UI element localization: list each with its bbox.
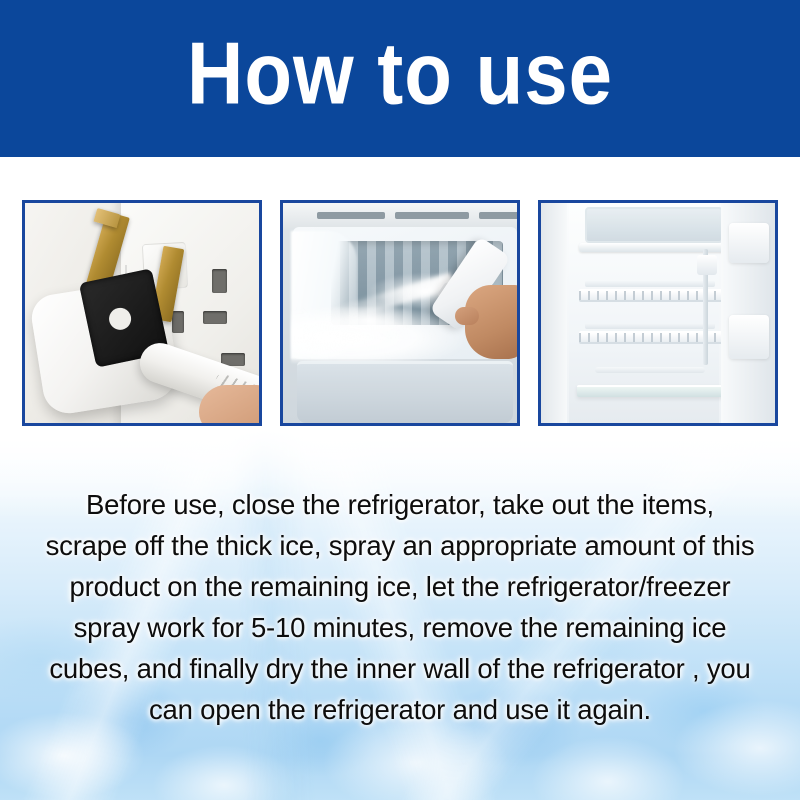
hand-holding-bottle — [465, 285, 520, 359]
socket-hole — [172, 311, 184, 333]
crisper-bin — [585, 207, 723, 243]
door-bin — [729, 315, 769, 359]
thermostat-control — [697, 255, 717, 275]
photo-strip — [22, 200, 778, 426]
wire-shelf — [579, 289, 731, 302]
photo-plug-unplugged-from-socket — [22, 200, 262, 426]
freezer-vent — [395, 212, 469, 219]
shelf-back-rail — [585, 323, 715, 329]
freezer-vent — [317, 212, 385, 219]
header-banner: How to use — [0, 0, 800, 157]
how-to-use-infographic: How to use — [0, 0, 800, 800]
photo-spraying-defrost-into-freezer — [280, 200, 520, 426]
glass-shelf — [577, 385, 735, 397]
photo-clean-empty-refrigerator-interior — [538, 200, 778, 426]
freezer-vent — [479, 212, 520, 219]
fridge-left-wall — [541, 203, 567, 423]
door-bin — [729, 223, 769, 263]
wire-shelf — [579, 331, 731, 344]
hand-finger — [199, 385, 262, 426]
page-title: How to use — [187, 28, 613, 116]
freezer-drawer — [297, 361, 513, 423]
shelf-back-rail — [585, 281, 715, 287]
socket-hole — [203, 311, 227, 324]
shelf-support-bar — [595, 367, 705, 373]
socket-hole — [212, 269, 227, 293]
instructions-text: Before use, close the refrigerator, take… — [44, 484, 756, 730]
